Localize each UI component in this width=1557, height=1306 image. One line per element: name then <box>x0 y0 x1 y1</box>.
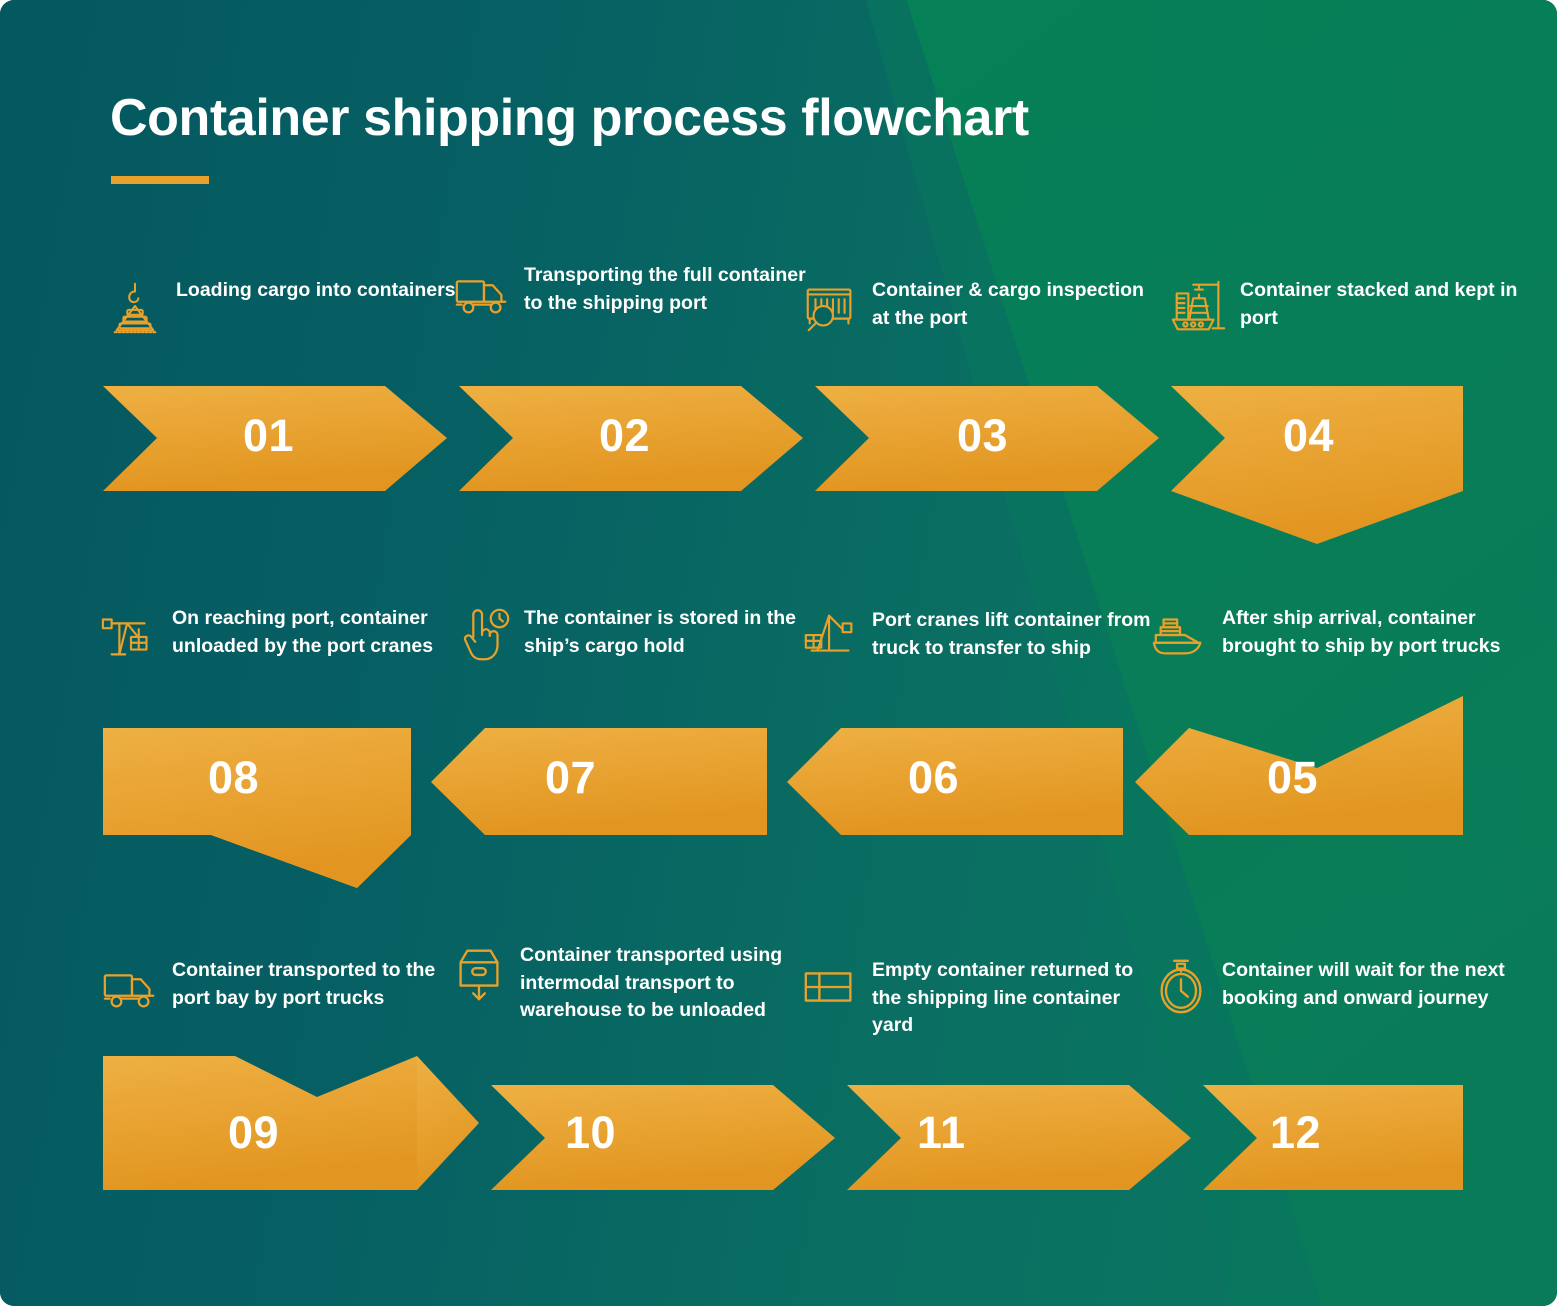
arrow-number-12: 12 <box>1270 1107 1321 1159</box>
port-crane-ship-loading-icon <box>1168 276 1230 338</box>
box-down-arrow-icon <box>448 942 510 1004</box>
arrow-number-03: 03 <box>957 410 1008 462</box>
step-label-12: Container will wait for the next booking… <box>1222 956 1508 1012</box>
step-label-02: Transporting the full container to the s… <box>524 262 810 317</box>
step-header-01: Loading cargo into containers <box>104 276 462 338</box>
arrow-number-08: 08 <box>208 752 259 804</box>
step-label-09: Container transported to the port bay by… <box>172 956 458 1012</box>
step-header-07: The container is stored in the ship’s ca… <box>452 604 810 666</box>
step-header-10: Container transported using intermodal t… <box>448 942 806 1025</box>
step-label-07: The container is stored in the ship’s ca… <box>524 604 810 660</box>
step-label-08: On reaching port, container unloaded by … <box>172 604 458 660</box>
crane-hook-cargo-stack-icon <box>104 276 166 338</box>
page-title: Container shipping process flowchart <box>110 88 1029 148</box>
cargo-ship-icon <box>1150 604 1212 666</box>
step-header-04: Container stacked and kept in port <box>1168 276 1526 338</box>
step-header-05: After ship arrival, container brought to… <box>1150 604 1508 666</box>
step-label-11: Empty container returned to the shipping… <box>872 956 1158 1040</box>
step-header-09: Container transported to the port bay by… <box>100 956 458 1018</box>
arrow-shape-10 <box>491 1085 835 1190</box>
step-label-05: After ship arrival, container brought to… <box>1222 604 1508 660</box>
empty-container-grid-icon <box>800 956 862 1018</box>
step-label-04: Container stacked and kept in port <box>1240 276 1526 332</box>
arrow-number-05: 05 <box>1267 752 1318 804</box>
port-truck-icon <box>100 956 162 1018</box>
arrow-number-01: 01 <box>243 410 294 462</box>
gantry-crane-container-icon <box>100 604 162 666</box>
step-label-06: Port cranes lift container from truck to… <box>872 606 1158 662</box>
arrow-shape-07 <box>431 728 767 835</box>
delivery-truck-icon <box>452 262 514 324</box>
step-header-02: Transporting the full container to the s… <box>452 262 810 324</box>
crane-lifting-container-icon <box>800 606 862 668</box>
title-underline-rule <box>111 176 209 184</box>
stopwatch-icon <box>1150 956 1212 1018</box>
row-1-arrow-band <box>95 378 1475 568</box>
arrow-shape-11 <box>847 1085 1191 1190</box>
row-2-arrow-band <box>95 690 1475 920</box>
arrow-number-11: 11 <box>917 1107 966 1159</box>
step-label-10: Container transported using intermodal t… <box>520 942 806 1025</box>
step-header-11: Empty container returned to the shipping… <box>800 956 1158 1040</box>
magnifier-container-inspection-icon <box>800 276 862 338</box>
arrow-number-07: 07 <box>545 752 596 804</box>
arrow-number-06: 06 <box>908 752 959 804</box>
infographic-canvas: Container shipping process flowchart Loa… <box>0 0 1557 1306</box>
step-label-01: Loading cargo into containers <box>176 276 456 305</box>
step-label-03: Container & cargo inspection at the port <box>872 276 1158 332</box>
arrow-number-04: 04 <box>1283 410 1334 462</box>
step-header-12: Container will wait for the next booking… <box>1150 956 1508 1018</box>
row-3-arrow-band <box>95 1040 1475 1240</box>
step-header-08: On reaching port, container unloaded by … <box>100 604 458 666</box>
arrow-number-09: 09 <box>228 1107 279 1159</box>
step-header-03: Container & cargo inspection at the port <box>800 276 1158 338</box>
hand-pointer-clock-icon <box>452 604 514 666</box>
arrow-shape-12 <box>1203 1085 1463 1190</box>
step-header-06: Port cranes lift container from truck to… <box>800 606 1158 668</box>
arrow-number-02: 02 <box>599 410 650 462</box>
arrow-number-10: 10 <box>565 1107 616 1159</box>
